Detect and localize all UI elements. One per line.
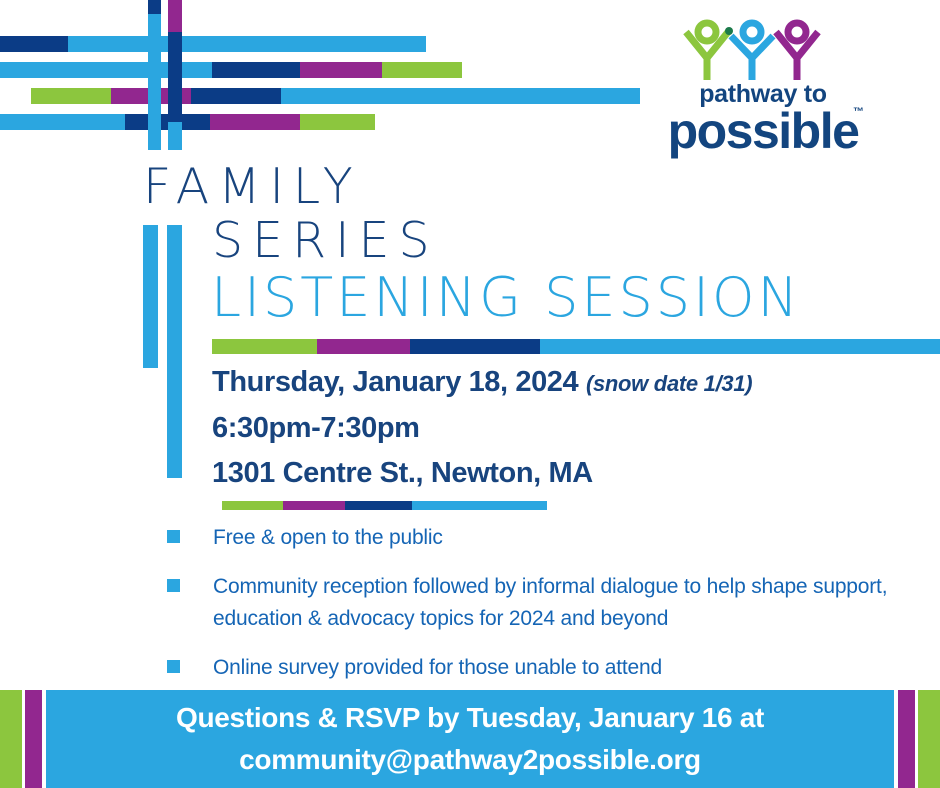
event-date: Thursday, January 18, 2024	[212, 366, 578, 398]
bullet-square-icon	[167, 579, 180, 592]
logo: pathway to possible ™	[648, 18, 878, 153]
row-4-purple	[210, 114, 300, 130]
col-2-purple	[168, 0, 182, 32]
row-1-navy	[0, 36, 68, 52]
row-1-blue	[68, 36, 426, 52]
bullet-text: Community reception followed by informal…	[213, 571, 937, 635]
bottom-banner: Questions & RSVP by Tuesday, January 16 …	[0, 690, 940, 788]
bullet-square-icon	[167, 660, 180, 673]
headline-listening-session: LISTENING SESSION	[211, 266, 801, 329]
headline-series: SERIES	[212, 212, 439, 269]
row-4-green	[300, 114, 375, 130]
rule-narrow-segment-2	[345, 501, 412, 510]
rule-wide-segment-0	[212, 339, 317, 354]
row-2-navy	[212, 62, 300, 78]
headline-family: FAMILY	[143, 158, 362, 215]
divider-rule-wide	[212, 339, 940, 354]
col-2-blue	[168, 122, 182, 150]
row-3-navy	[191, 88, 281, 104]
accent-bar-long	[167, 225, 182, 478]
row-3-green	[31, 88, 111, 104]
row-3-blue	[281, 88, 640, 104]
rule-wide-segment-1	[317, 339, 410, 354]
rule-wide-segment-2	[410, 339, 540, 354]
logo-wordmark-line2: possible	[648, 102, 878, 160]
col-1-blue	[148, 14, 161, 150]
banner-stripe-purple-left	[25, 690, 42, 788]
logo-trademark: ™	[853, 106, 864, 118]
divider-rule-narrow	[222, 501, 547, 510]
event-address: 1301 Centre St., Newton, MA	[212, 451, 752, 496]
banner-rsvp-line: Questions & RSVP by Tuesday, January 16 …	[176, 697, 764, 739]
accent-bar-short	[143, 225, 158, 368]
bullet-text: Free & open to the public	[213, 522, 443, 554]
rule-narrow-segment-0	[222, 501, 283, 510]
col-2-navy	[168, 32, 182, 122]
bullet-item: Online survey provided for those unable …	[167, 652, 937, 684]
rule-wide-segment-3	[540, 339, 940, 354]
event-snow-date-note: (snow date 1/31)	[586, 371, 752, 396]
event-time: 6:30pm-7:30pm	[212, 406, 752, 451]
logo-figures-icon	[674, 18, 854, 80]
col-1-navy	[148, 0, 161, 14]
row-2-green	[382, 62, 462, 78]
event-details: Thursday, January 18, 2024 (snow date 1/…	[212, 360, 752, 496]
bullet-text: Online survey provided for those unable …	[213, 652, 662, 684]
row-4-blue	[0, 114, 125, 130]
bullet-list: Free & open to the publicCommunity recep…	[167, 522, 937, 701]
poster-canvas: pathway to possible ™ FAMILY SERIES LIST…	[0, 0, 940, 788]
bullet-item: Community reception followed by informal…	[167, 571, 937, 635]
bullet-item: Free & open to the public	[167, 522, 937, 554]
banner-stripe-green-right	[918, 690, 940, 788]
event-date-line: Thursday, January 18, 2024 (snow date 1/…	[212, 360, 752, 406]
rule-narrow-segment-1	[283, 501, 345, 510]
banner-content: Questions & RSVP by Tuesday, January 16 …	[46, 690, 894, 788]
bullet-square-icon	[167, 530, 180, 543]
banner-stripe-green-left	[0, 690, 22, 788]
rule-narrow-segment-3	[412, 501, 547, 510]
row-2-purple	[300, 62, 382, 78]
banner-stripe-purple-right	[898, 690, 915, 788]
banner-email-address[interactable]: community@pathway2possible.org	[239, 739, 701, 781]
